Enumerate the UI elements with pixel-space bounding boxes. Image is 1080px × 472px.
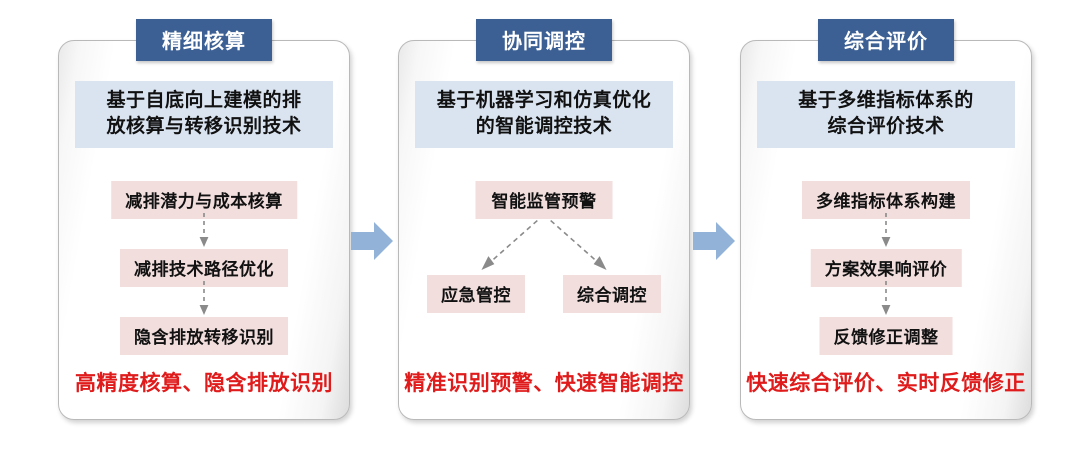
branch-node-left: 应急管控 <box>427 275 525 313</box>
panel-title-line-2: 放核算与转移识别技术 <box>79 114 329 140</box>
dashed-arrow-down-2 <box>880 281 892 317</box>
arrow-panel1-to-panel2-icon <box>350 220 394 262</box>
panel-title-line-1: 基于机器学习和仿真优化 <box>419 88 669 114</box>
panel-fine-accounting: 精细核算 基于自底向上建模的排 放核算与转移识别技术 减排潜力与成本核算 减排技… <box>58 40 350 420</box>
panel-header-tab: 精细核算 <box>136 19 272 61</box>
branch-node-top: 智能监管预警 <box>476 181 613 219</box>
flow-linear: 减排潜力与成本核算 减排技术路径优化 隐含排放转移识别 <box>59 181 349 361</box>
panel-title-line-1: 基于自底向上建模的排 <box>79 88 329 114</box>
arrow-panel2-to-panel3-icon <box>692 220 736 262</box>
flow-step-3: 反馈修正调整 <box>820 317 953 355</box>
dashed-arrow-down-2 <box>198 281 210 317</box>
flow-branch: 智能监管预警 应急管控 综合调控 <box>399 181 689 361</box>
panel-title-line-1: 基于多维指标体系的 <box>761 88 1011 114</box>
panel-title: 基于多维指标体系的 综合评价技术 <box>757 81 1015 148</box>
panel-title-line-2: 的智能调控技术 <box>419 114 669 140</box>
panel-footer-note: 快速综合评价、实时反馈修正 <box>741 367 1031 397</box>
dashed-arrow-down-1 <box>880 213 892 249</box>
panel-title: 基于自底向上建模的排 放核算与转移识别技术 <box>75 81 333 148</box>
panel-footer-note: 精准识别预警、快速智能调控 <box>399 367 689 397</box>
panel-title-line-2: 综合评价技术 <box>761 114 1011 140</box>
panel-comprehensive-evaluation: 综合评价 基于多维指标体系的 综合评价技术 多维指标体系构建 方案效果响评价 反… <box>740 40 1032 420</box>
panel-header-tab: 综合评价 <box>818 19 954 61</box>
panel-collaborative-control: 协同调控 基于机器学习和仿真优化 的智能调控技术 智能监管预警 应急管控 综合调… <box>398 40 690 420</box>
flow-step-3: 隐含排放转移识别 <box>120 317 288 355</box>
panel-title: 基于机器学习和仿真优化 的智能调控技术 <box>415 81 673 148</box>
branch-node-right: 综合调控 <box>563 275 661 313</box>
panel-header-tab: 协同调控 <box>476 19 612 61</box>
flow-linear: 多维指标体系构建 方案效果响评价 反馈修正调整 <box>741 181 1031 361</box>
diagram-canvas: 精细核算 基于自底向上建模的排 放核算与转移识别技术 减排潜力与成本核算 减排技… <box>0 0 1080 472</box>
dashed-arrow-down-1 <box>198 213 210 249</box>
panel-footer-note: 高精度核算、隐含排放识别 <box>59 367 349 397</box>
